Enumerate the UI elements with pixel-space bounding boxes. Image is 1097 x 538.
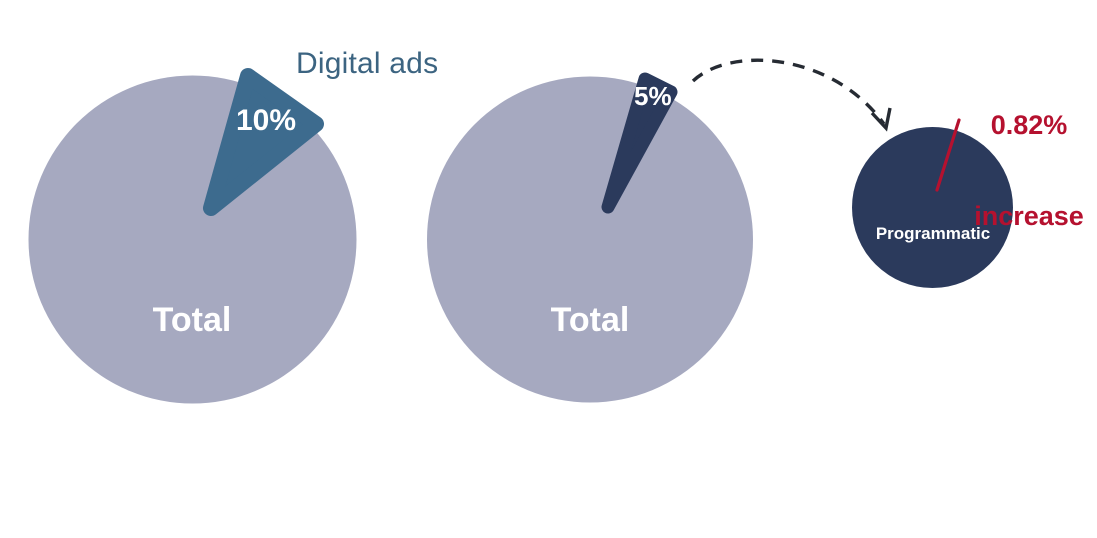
pie-chart-total-revenue-digital-ads: [29, 76, 357, 404]
infographic-canvas: Digital ads 10% 5% Total Revenue Total R…: [0, 0, 1097, 461]
pie-comparison-diagram: [0, 0, 1097, 461]
pie2-total-revenue-circle: [427, 77, 753, 403]
flow-arrow-curve: [693, 60, 884, 124]
pie-chart-total-revenue-programmatic: [427, 77, 753, 403]
flow-arrow: [693, 60, 890, 128]
pie-chart-programmatic-ads-detail: [852, 120, 1013, 288]
programmatic-ads-circle: [852, 127, 1013, 288]
